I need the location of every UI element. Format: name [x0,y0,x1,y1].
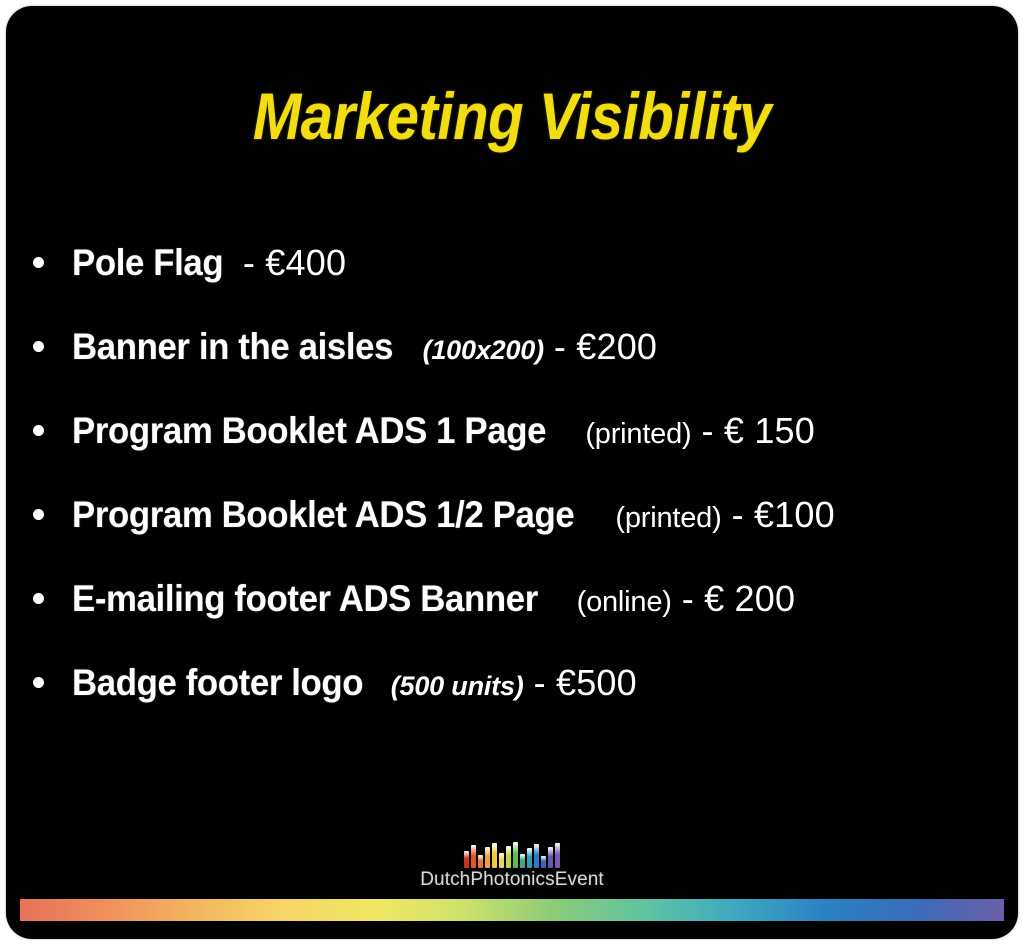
spectrum-bar [478,855,483,868]
spectrum-bar [527,848,532,868]
list-item-note: (100x200) [423,337,544,364]
brand-logo: DutchPhotonicsEvent [6,842,1018,891]
spectrum-bars-icon [460,842,564,868]
list-item-label: Program Booklet ADS 1/2 Page [72,496,574,533]
list-item-line: Pole Flag - €400 [72,244,346,281]
spectrum-bar [548,847,553,868]
spectrum-bar [506,846,511,868]
list-item-line: Program Booklet ADS 1/2 Page (printed) -… [72,496,835,533]
slide-card: Marketing Visibility Pole Flag - €400 Ba… [6,6,1018,939]
list-item-line: E-mailing footer ADS Banner (online) - €… [72,580,795,617]
spectrum-bar [485,847,490,868]
list-item-label: E-mailing footer ADS Banner [72,580,538,617]
bullet-icon [33,677,44,688]
list-item-note: (printed) [615,504,721,533]
list-item-price: - €200 [554,329,657,365]
spectrum-gradient-bar [20,899,1004,921]
brand-logo-text: DutchPhotonicsEvent [6,869,1018,891]
spectrum-bar [499,853,504,868]
list-item-label: Banner in the aisles [72,328,393,365]
list-item-price: - €500 [534,665,637,701]
list-item-label: Badge footer logo [72,664,363,701]
list-item: Program Booklet ADS 1/2 Page (printed) -… [22,472,1002,556]
bullet-icon [33,509,44,520]
bullet-icon [33,425,44,436]
list-item-price: - €400 [243,245,346,281]
list-item-price: - € 150 [702,413,815,449]
list-item: Badge footer logo (500 units) - €500 [22,640,1002,724]
spectrum-bar [555,843,560,868]
spectrum-bar [541,856,546,868]
list-item-line: Badge footer logo (500 units) - €500 [72,664,637,701]
list-item-price: - € 200 [682,581,795,617]
list-item-note: (online) [577,588,672,617]
list-item: Banner in the aisles (100x200) - €200 [22,304,1002,388]
list-item-note: (500 units) [391,673,524,700]
list-item-line: Program Booklet ADS 1 Page (printed) - €… [72,412,815,449]
list-item: Pole Flag - €400 [22,220,1002,304]
list-item: E-mailing footer ADS Banner (online) - €… [22,556,1002,640]
list-item-price: - €100 [732,497,835,533]
spectrum-bar [520,854,525,868]
spectrum-bar [492,843,497,868]
bullet-icon [33,257,44,268]
bullet-icon [33,341,44,352]
list-item-note: (printed) [585,420,691,449]
bullet-icon [33,593,44,604]
marketing-options-list: Pole Flag - €400 Banner in the aisles (1… [22,220,1002,724]
page-title: Marketing Visibility [67,78,958,154]
spectrum-bar [471,845,476,868]
spectrum-bar [534,844,539,868]
list-item: Program Booklet ADS 1 Page (printed) - €… [22,388,1002,472]
list-item-label: Program Booklet ADS 1 Page [72,412,546,449]
spectrum-bar [464,851,469,868]
spectrum-bar [513,842,518,868]
list-item-label: Pole Flag [72,244,223,281]
list-item-line: Banner in the aisles (100x200) - €200 [72,328,657,365]
